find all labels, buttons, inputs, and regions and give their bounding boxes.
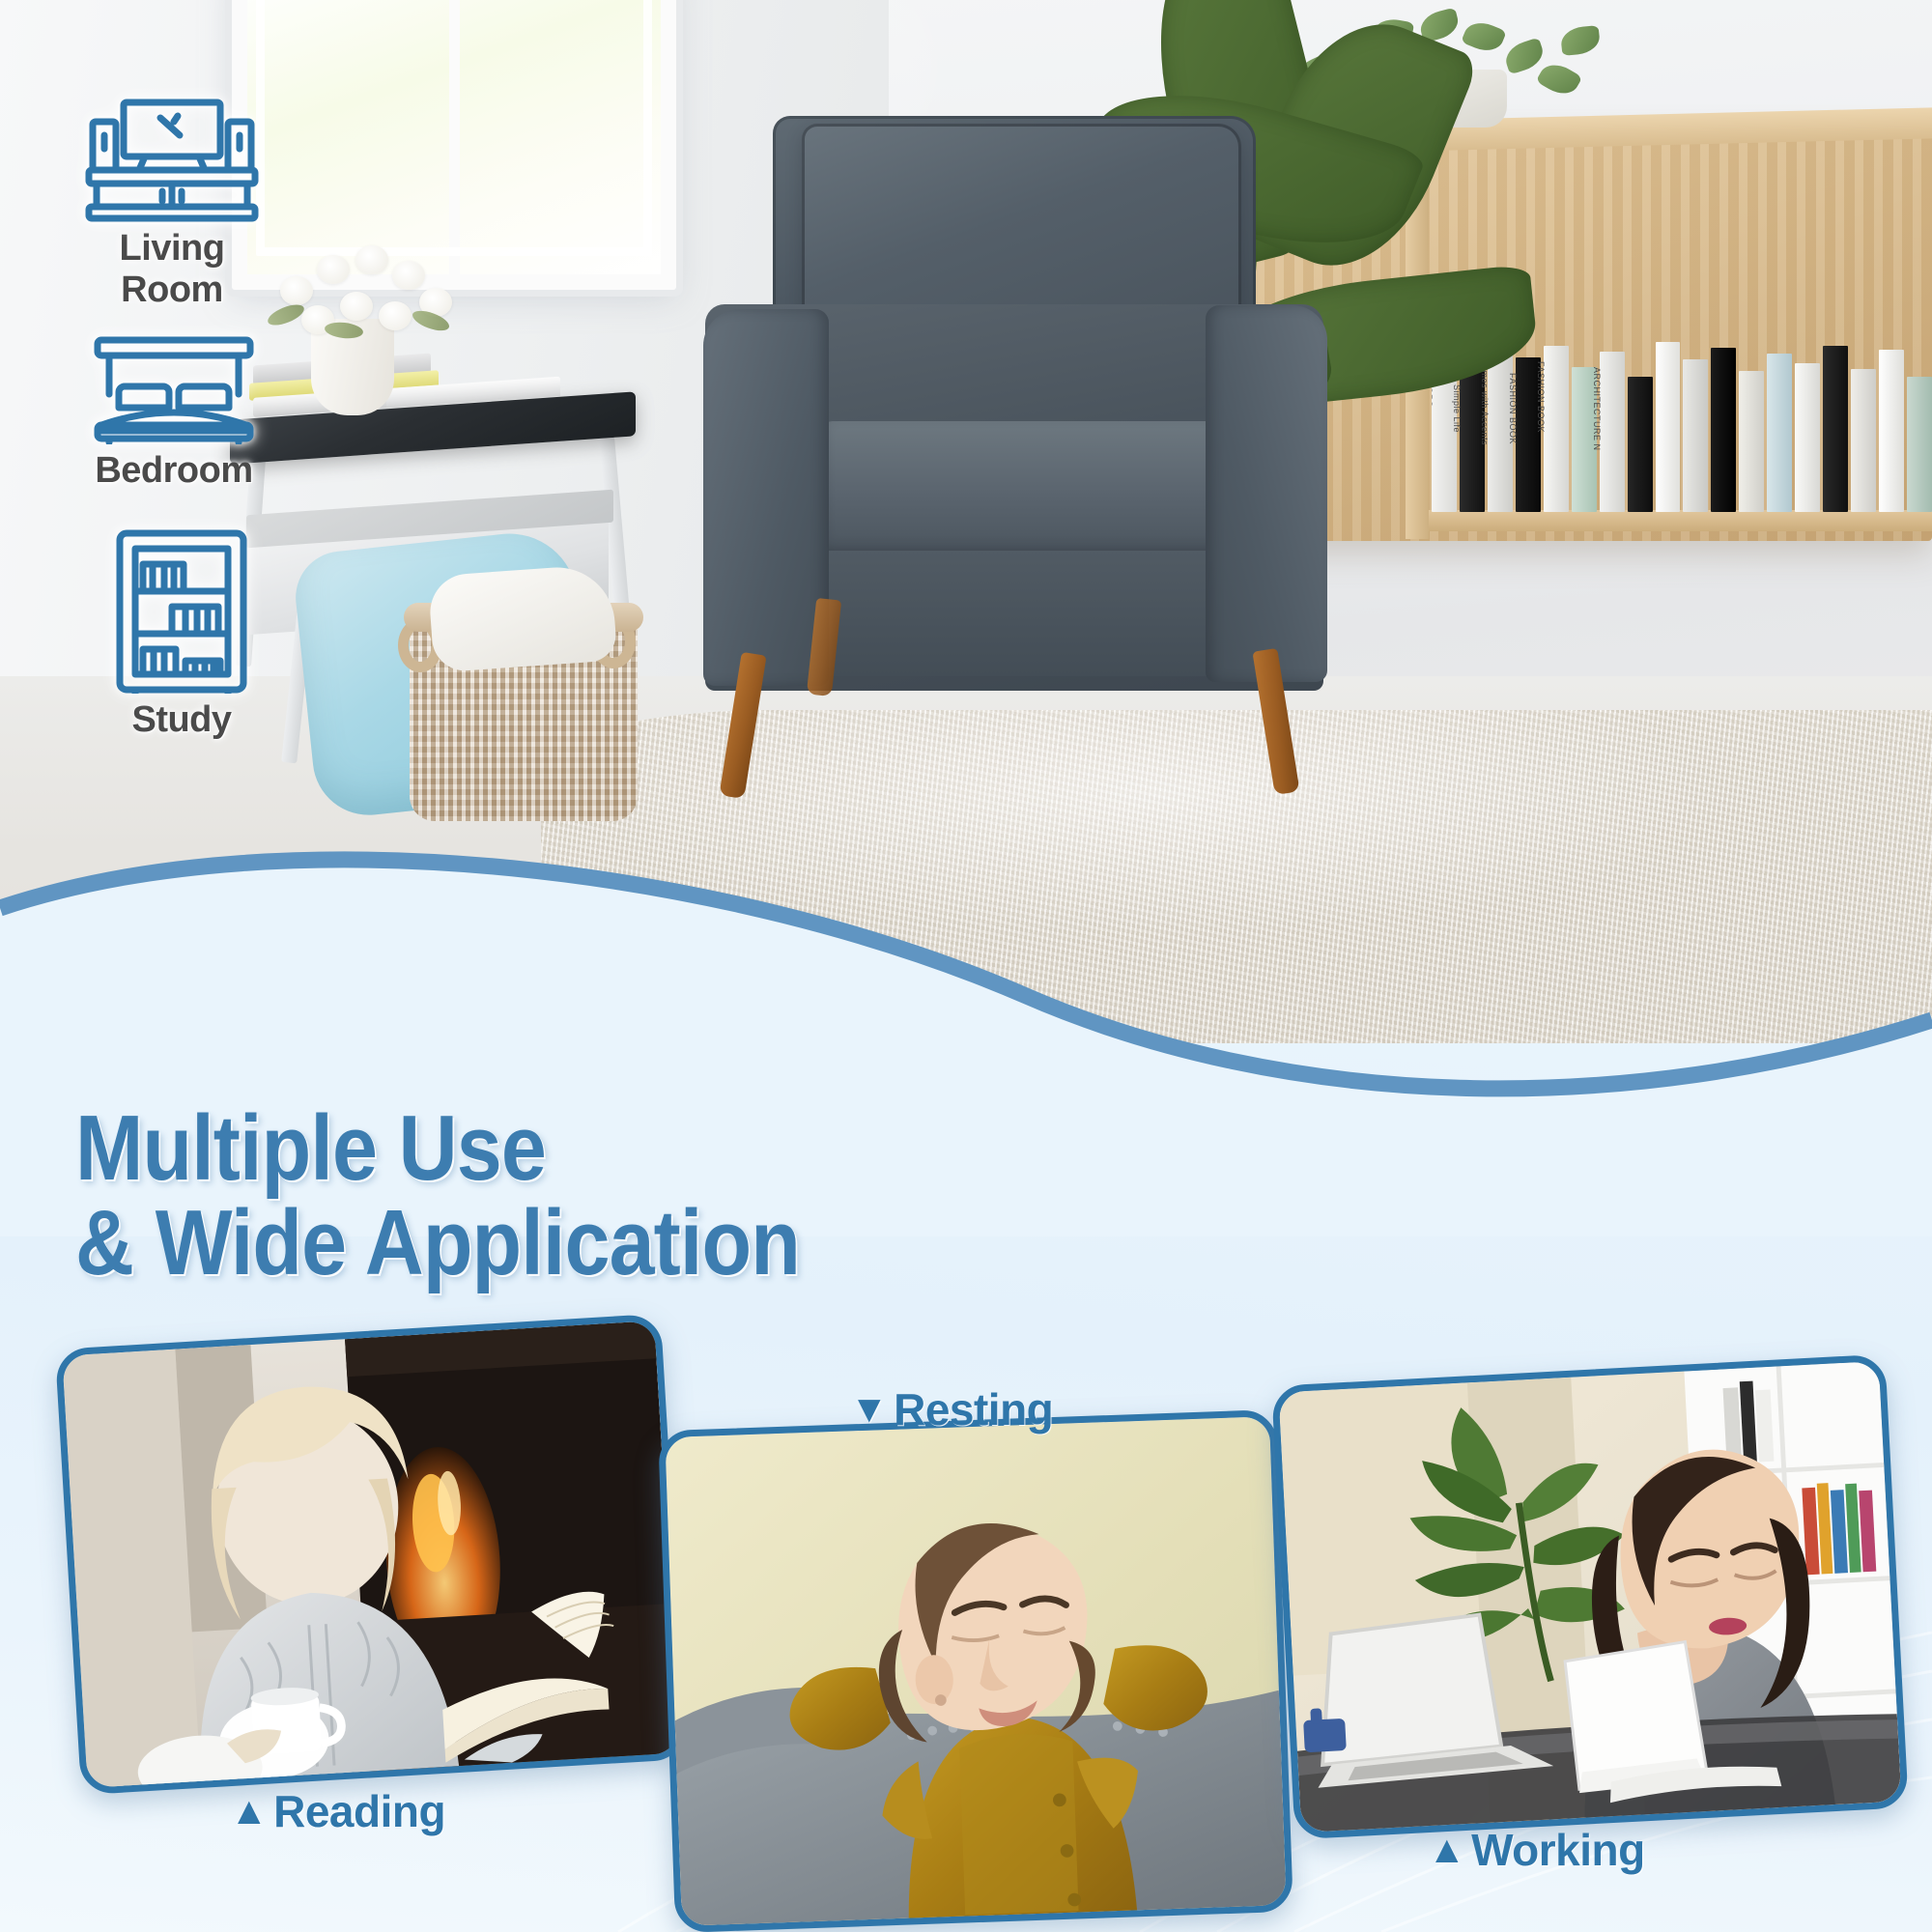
infographic-canvas: INTERIORS The Simple Life Homes with Acc… xyxy=(0,0,1932,1932)
feature-label: Bedroom xyxy=(68,450,280,492)
headline-line-2: & Wide Application xyxy=(75,1196,968,1291)
headline-line-1: Multiple Use xyxy=(75,1096,546,1200)
window-trim xyxy=(256,0,652,256)
accent-armchair xyxy=(696,116,1333,831)
caption-text: Working xyxy=(1471,1824,1645,1876)
bed-icon xyxy=(92,336,256,444)
feature-living-room: Living Room xyxy=(66,97,278,311)
feature-bedroom: Bedroom xyxy=(68,336,280,492)
use-case-photo-working xyxy=(1271,1354,1909,1840)
triangle-down-icon: ▼ xyxy=(850,1390,888,1429)
folded-linens xyxy=(428,563,618,672)
tv-stand-icon xyxy=(85,97,259,222)
photo-working xyxy=(1278,1361,1901,1833)
caption-text: Reading xyxy=(273,1785,445,1837)
chair-seat-cushion xyxy=(821,421,1227,556)
chair-arm-left xyxy=(703,309,829,686)
chair-arm-right xyxy=(1206,305,1327,682)
photo-reading xyxy=(62,1321,679,1788)
photo-resting xyxy=(665,1416,1286,1926)
headline: Multiple Use & Wide Application xyxy=(75,1101,968,1291)
tulip-bouquet xyxy=(267,238,450,334)
caption-text: Resting xyxy=(894,1383,1053,1435)
feature-label: Study xyxy=(75,699,288,741)
caption-working: ▲ Working xyxy=(1428,1824,1645,1876)
feature-label: Living Room xyxy=(66,228,278,311)
use-case-photo-reading xyxy=(55,1314,687,1795)
triangle-up-icon: ▲ xyxy=(230,1792,268,1831)
chair-apron xyxy=(811,551,1236,676)
use-case-photo-resting xyxy=(658,1409,1293,1932)
caption-resting: ▼ Resting xyxy=(850,1383,1053,1435)
caption-reading: ▲ Reading xyxy=(230,1785,445,1837)
feature-study: Study xyxy=(75,529,288,741)
triangle-up-icon: ▲ xyxy=(1428,1831,1465,1869)
bookshelf-icon xyxy=(114,529,249,694)
